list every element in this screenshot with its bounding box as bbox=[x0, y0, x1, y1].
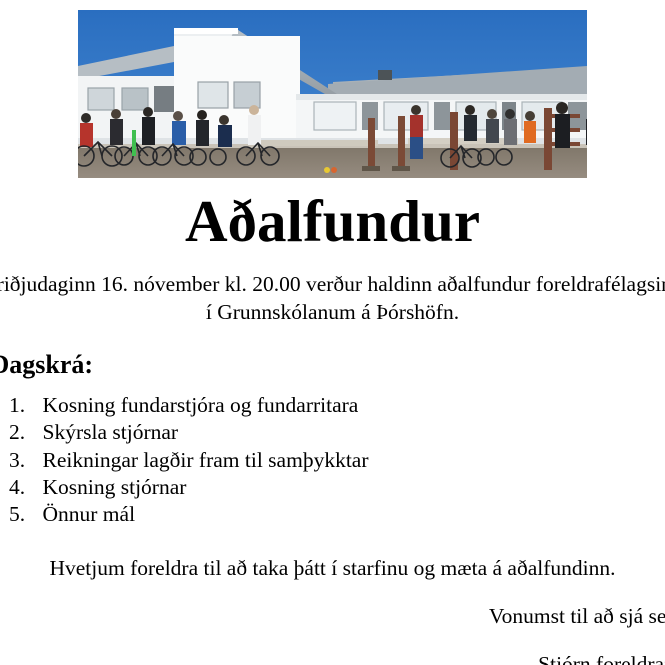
agenda-item: Skýrsla stjórnar bbox=[31, 419, 665, 446]
closing-block: Hvetjum foreldra til að taka þátt í star… bbox=[0, 555, 665, 665]
page-title: Aðalfundur bbox=[0, 191, 665, 252]
agenda-item: Reikningar lagðir fram til samþykktar bbox=[31, 447, 665, 474]
meeting-details-paragraph: Þriðjudaginn 16. nóvember kl. 20.00 verð… bbox=[0, 270, 665, 327]
agenda-item: Önnur mál bbox=[31, 501, 665, 528]
agenda-item: Kosning fundarstjóra og fundarritara bbox=[31, 392, 665, 419]
header-photo-container bbox=[0, 0, 665, 183]
agenda-item: Kosning stjórnar bbox=[31, 474, 665, 501]
school-building-photo bbox=[78, 10, 587, 178]
closing-line-hope: Vonumst til að sjá sem flesta. bbox=[0, 603, 665, 631]
document-body: Aðalfundur Þriðjudaginn 16. nóvember kl.… bbox=[0, 0, 665, 665]
page-viewport: Aðalfundur Þriðjudaginn 16. nóvember kl.… bbox=[0, 0, 665, 665]
agenda-list: Kosning fundarstjóra og fundarritara Ský… bbox=[0, 392, 665, 528]
closing-signature: Stjórn foreldrafélagsins bbox=[0, 651, 665, 665]
agenda-heading: Dagskrá: bbox=[0, 349, 665, 380]
closing-line-encouragement: Hvetjum foreldra til að taka þátt í star… bbox=[0, 555, 665, 583]
